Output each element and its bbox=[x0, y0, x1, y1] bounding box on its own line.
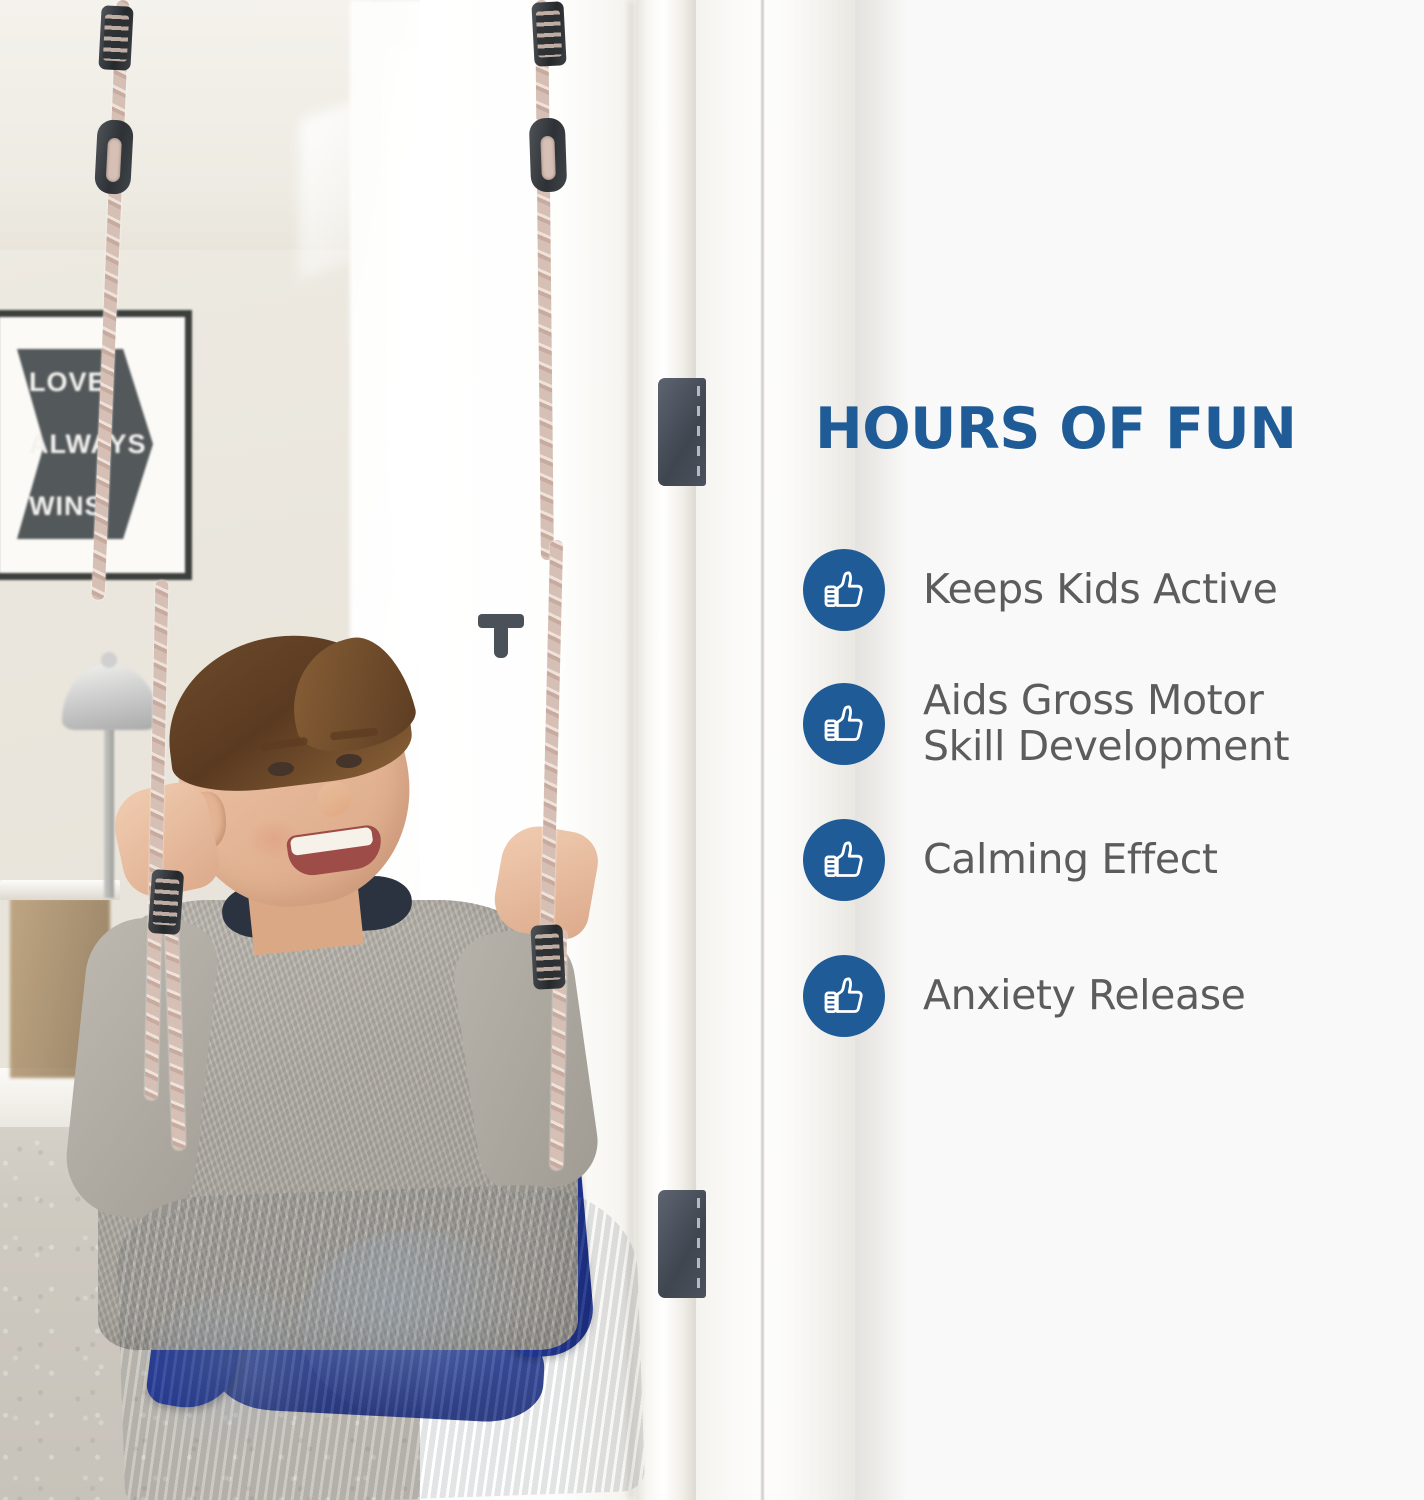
list-item-label: Keeps Kids Active bbox=[923, 567, 1277, 613]
list-item: Keeps Kids Active bbox=[803, 548, 1424, 632]
rope-adjuster-top-right bbox=[531, 1, 566, 67]
child-on-swing bbox=[0, 0, 856, 1500]
list-item: Calming Effect bbox=[803, 818, 1424, 902]
product-feature-banner: LOVE ALWAYS WINS bbox=[0, 0, 1424, 1500]
rope-adjuster-left bbox=[148, 869, 184, 935]
rope-adjuster-right bbox=[530, 924, 565, 990]
list-item: Anxiety Release bbox=[803, 954, 1424, 1038]
benefit-line-1: Calming Effect bbox=[923, 835, 1218, 883]
rope-clip-left bbox=[94, 119, 134, 195]
list-item-label: Calming Effect bbox=[923, 837, 1218, 883]
product-lifestyle-photo: LOVE ALWAYS WINS bbox=[0, 0, 856, 1500]
thumbs-up-icon bbox=[803, 819, 885, 901]
rope-adjuster-top-left bbox=[98, 5, 133, 71]
thumbs-up-icon bbox=[803, 549, 885, 631]
benefit-line-1: Aids Gross Motor bbox=[923, 676, 1264, 724]
thumbs-up-icon bbox=[803, 955, 885, 1037]
thumbs-up-icon bbox=[803, 683, 885, 765]
page-title: HOURS OF FUN bbox=[815, 396, 1424, 462]
list-item: Aids Gross Motor Skill Development bbox=[803, 678, 1424, 770]
list-item-label: Anxiety Release bbox=[923, 973, 1245, 1019]
benefits-list: Keeps Kids Active Aids Gross Motor Skill… bbox=[803, 548, 1424, 1038]
list-item-label: Aids Gross Motor Skill Development bbox=[923, 678, 1289, 770]
benefit-line-1: Keeps Kids Active bbox=[923, 565, 1277, 613]
rope-clip-right bbox=[529, 117, 568, 192]
child-knee-left bbox=[140, 1290, 340, 1460]
content-panel: GM Y 1 HOURS OF FUN Keeps Kids Active bbox=[855, 0, 1424, 1500]
benefit-line-1: Anxiety Release bbox=[923, 971, 1245, 1019]
benefit-line-2: Skill Development bbox=[923, 724, 1289, 770]
